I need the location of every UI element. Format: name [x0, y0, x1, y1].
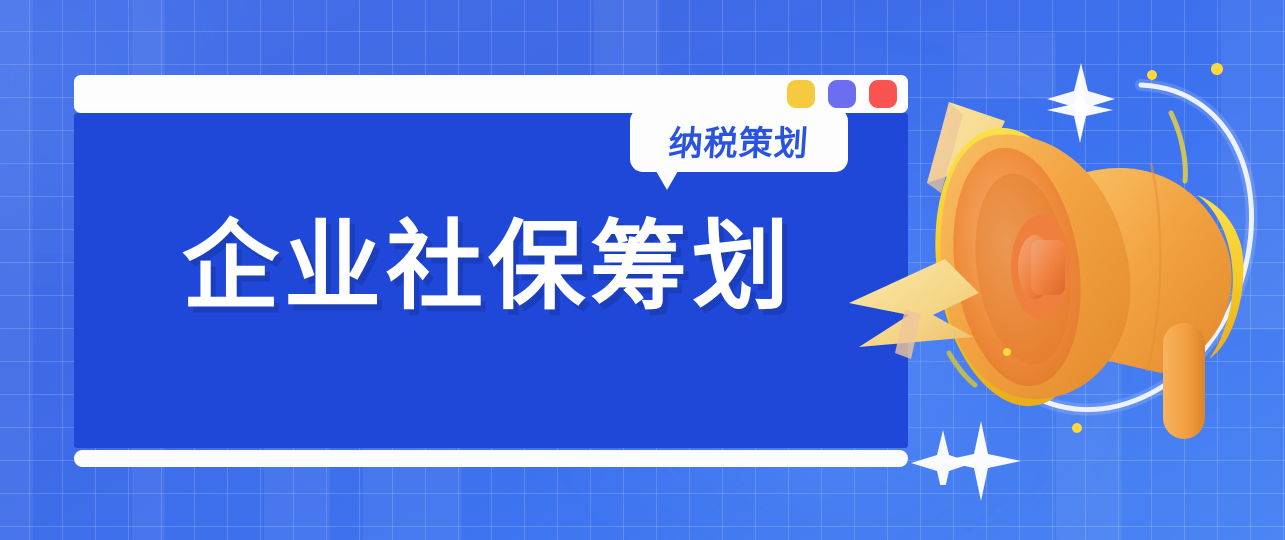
sparkle-icon [941, 421, 1021, 501]
accent-dot [1211, 63, 1223, 75]
tag-bubble-tail [656, 171, 678, 190]
yellow-dot [787, 80, 815, 108]
content-card: 纳税策划 企业社保筹划 [74, 75, 908, 467]
accent-dot [1072, 423, 1082, 433]
accent-arc-top [1171, 113, 1185, 181]
megaphone-handle [1163, 323, 1205, 439]
card-bottom-bar [74, 450, 908, 467]
accent-dot [1003, 348, 1011, 356]
sparkle-icon [1047, 77, 1113, 143]
tag-bubble: 纳税策划 [630, 108, 848, 172]
tag-bubble-label: 纳税策划 [667, 116, 810, 165]
driver-stem [1031, 240, 1065, 295]
sparkle-card-right [938, 418, 1024, 504]
page-title: 企业社保筹划 [182, 218, 794, 315]
accent-dot [1147, 70, 1157, 80]
sparkle-top-right [1045, 75, 1115, 145]
megaphone-illustration [845, 55, 1285, 485]
banner-root: 纳税策划 企业社保筹划 [0, 0, 1285, 540]
